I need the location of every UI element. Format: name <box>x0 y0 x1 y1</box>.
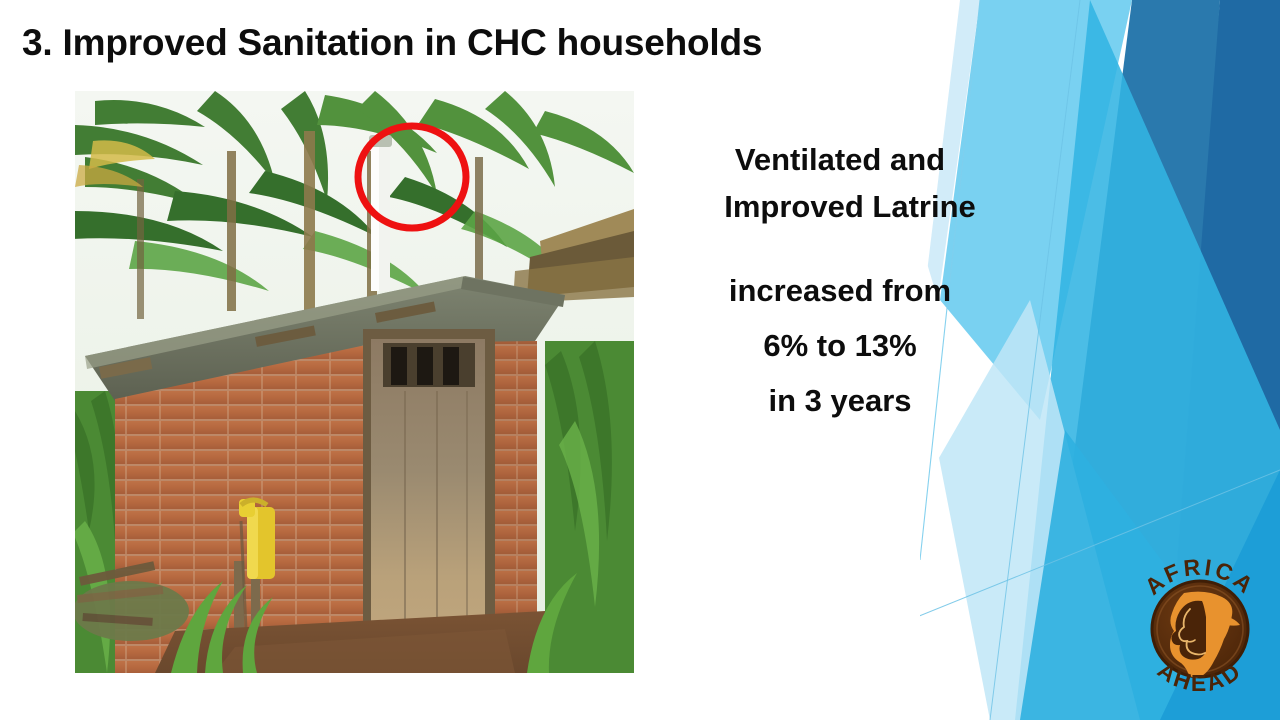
slide-canvas: 3. Improved Sanitation in CHC households <box>0 0 1280 720</box>
body-line-1: Ventilated and <box>648 136 1032 183</box>
africa-ahead-logo: AFRICA AHEAD <box>1124 549 1276 709</box>
body-line-4: 6% to 13% <box>648 318 1032 373</box>
page-title: 3. Improved Sanitation in CHC households <box>22 20 922 66</box>
latrine-photo <box>75 91 634 673</box>
body-line-3: increased from <box>648 263 1032 318</box>
body-line-2: Improved Latrine <box>648 183 1032 230</box>
body-line-5: in 3 years <box>648 373 1032 428</box>
body-text-block: Ventilated and Improved Latrine increase… <box>648 136 1032 428</box>
vent-pipe-icon <box>369 135 392 291</box>
